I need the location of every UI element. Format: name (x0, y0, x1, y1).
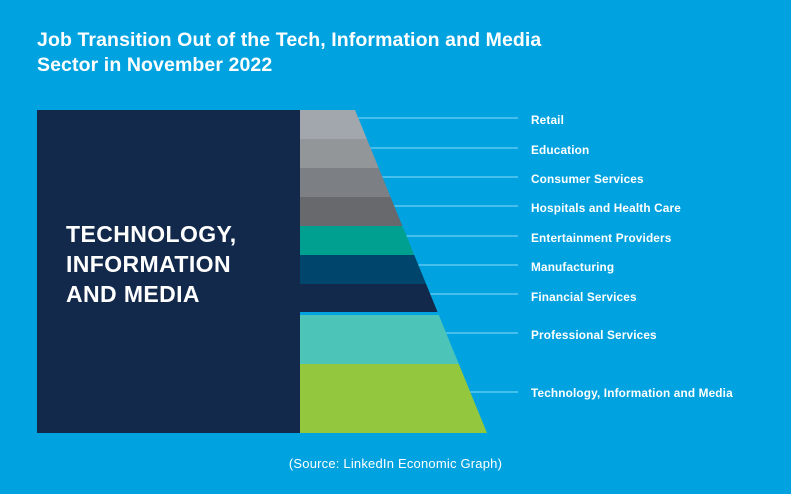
category-label: Education (531, 144, 589, 157)
source-caption: (Source: LinkedIn Economic Graph) (0, 456, 791, 471)
funnel-band[interactable] (300, 226, 414, 255)
category-label: Entertainment Providers (531, 232, 671, 245)
category-label: Hospitals and Health Care (531, 202, 681, 215)
panel-label: TECHNOLOGY, INFORMATION AND MEDIA (66, 219, 296, 309)
funnel-band[interactable] (300, 255, 426, 284)
category-label: Financial Services (531, 291, 637, 304)
funnel-band[interactable] (300, 139, 379, 168)
funnel-band[interactable] (300, 168, 391, 197)
category-label: Professional Services (531, 329, 657, 342)
funnel-band[interactable] (300, 364, 487, 433)
funnel-band[interactable] (300, 284, 438, 312)
panel-label-line-2: INFORMATION (66, 249, 296, 279)
category-label: Manufacturing (531, 261, 614, 274)
category-label: Technology, Information and Media (531, 387, 733, 400)
infographic-canvas: Job Transition Out of the Tech, Informat… (0, 0, 791, 494)
panel-label-line-3: AND MEDIA (66, 279, 296, 309)
funnel-band[interactable] (300, 315, 459, 364)
funnel-band[interactable] (300, 110, 367, 139)
category-label: Consumer Services (531, 173, 644, 186)
panel-label-line-1: TECHNOLOGY, (66, 219, 296, 249)
funnel-band[interactable] (300, 197, 402, 226)
category-label: Retail (531, 114, 564, 127)
funnel-bands-group (300, 110, 487, 433)
